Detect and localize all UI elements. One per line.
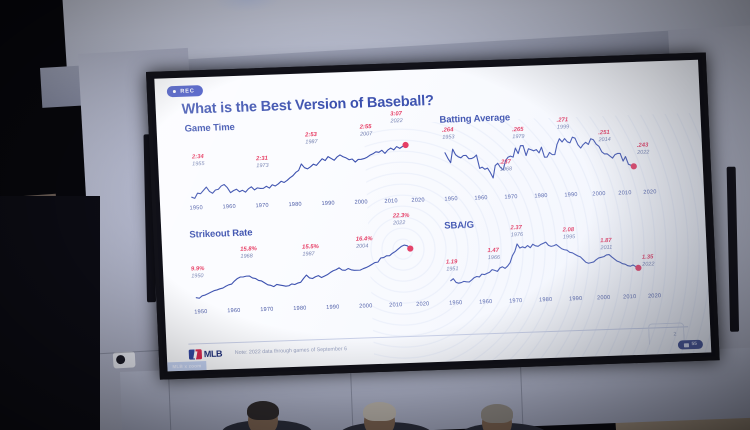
- annotation-2022-endpoint: .2432022: [637, 142, 650, 155]
- foreground-shadow: [0, 196, 100, 430]
- annotation-2004: 16.4%2004: [356, 236, 373, 249]
- annotation-2022-endpoint: 1.352022: [642, 254, 655, 267]
- annotation-1973: 2:311973: [256, 156, 269, 169]
- page-number: 2: [673, 332, 676, 338]
- chart-plot-area: 9.9%1950 15.8%1968 15.5%1987 16.4%2004 2…: [190, 236, 433, 306]
- annotation-1976: 2.371976: [510, 225, 523, 238]
- chart-sba-per-game: SBA/G 1.191951 1.471966 2.371976 2.08199…: [444, 212, 688, 311]
- meeting-overlay-tab: MLB x zoom: [167, 361, 206, 371]
- annotation-2022-endpoint: 22.3%2022: [393, 213, 410, 226]
- mlb-batter-icon: [189, 349, 202, 359]
- annotation-1987: 15.5%1987: [302, 244, 319, 257]
- chart-plot-area: 1.191951 1.471966 2.371976 2.081995 1.87…: [445, 227, 688, 297]
- chart-batting-average: Batting Average .2641953 .2371968 .26519…: [439, 106, 683, 207]
- person-head: [482, 406, 512, 430]
- recording-badge: REC: [167, 85, 203, 97]
- line-chart-svg: [440, 122, 657, 189]
- annotation-1968: .2371968: [499, 159, 512, 172]
- mlb-logo: MLB: [189, 349, 223, 360]
- recording-label: REC: [180, 88, 195, 95]
- footer-divider: [188, 326, 688, 344]
- conference-room-photo: REC What is the Best Version of Baseball…: [0, 0, 750, 430]
- presentation-display: REC What is the Best Version of Baseball…: [146, 52, 720, 379]
- chart-plot-area: .2641953 .2371968 .2651979 .2711999 .251…: [440, 121, 683, 193]
- annotation-2011: 1.872011: [600, 238, 612, 251]
- share-badge[interactable]: 55: [677, 340, 703, 350]
- line-chart-svg: [445, 228, 662, 293]
- annotation-1951: 1.191951: [446, 259, 459, 272]
- wall-camera: [113, 351, 136, 368]
- chart-game-time: Game Time 2:341955 2:311973 2:531987 2:5…: [184, 115, 428, 216]
- share-count: 55: [691, 342, 697, 347]
- screen-share-icon: [683, 343, 688, 347]
- ceiling-light-glow: [212, 0, 283, 14]
- annotation-2014: .2512014: [598, 130, 611, 143]
- record-dot-icon: [173, 90, 177, 94]
- annotation-1987: 2:531987: [305, 132, 318, 145]
- annotation-1966: 1.471966: [487, 248, 500, 261]
- wall-seam: [350, 363, 354, 430]
- annotation-2007: 2:552007: [360, 124, 373, 137]
- annotation-1979: .2651979: [512, 127, 525, 140]
- chart-strikeout-rate: Strikeout Rate 9.9%1950 15.8%1968 15.5%1…: [189, 221, 433, 320]
- annotation-1953: .2641953: [442, 127, 455, 140]
- slide-note: Note: 2022 data through games of Septemb…: [235, 346, 347, 356]
- annotation-1955: 2:341955: [192, 154, 205, 167]
- person-head: [364, 404, 395, 430]
- slide-screen: REC What is the Best Version of Baseball…: [154, 60, 711, 372]
- mlb-wordmark: MLB: [204, 349, 223, 360]
- annotation-2022-endpoint: 3:072022: [390, 111, 403, 124]
- wall-speaker-slot: [727, 167, 739, 332]
- person-head: [248, 403, 278, 430]
- annotation-1950: 9.9%1950: [191, 266, 205, 279]
- chart-plot-area: 2:341955 2:311973 2:531987 2:552007 3:07…: [185, 130, 428, 202]
- annotation-1999: .2711999: [556, 117, 569, 130]
- annotation-1995: 2.081995: [562, 227, 575, 240]
- annotation-1968: 15.8%1968: [240, 246, 257, 259]
